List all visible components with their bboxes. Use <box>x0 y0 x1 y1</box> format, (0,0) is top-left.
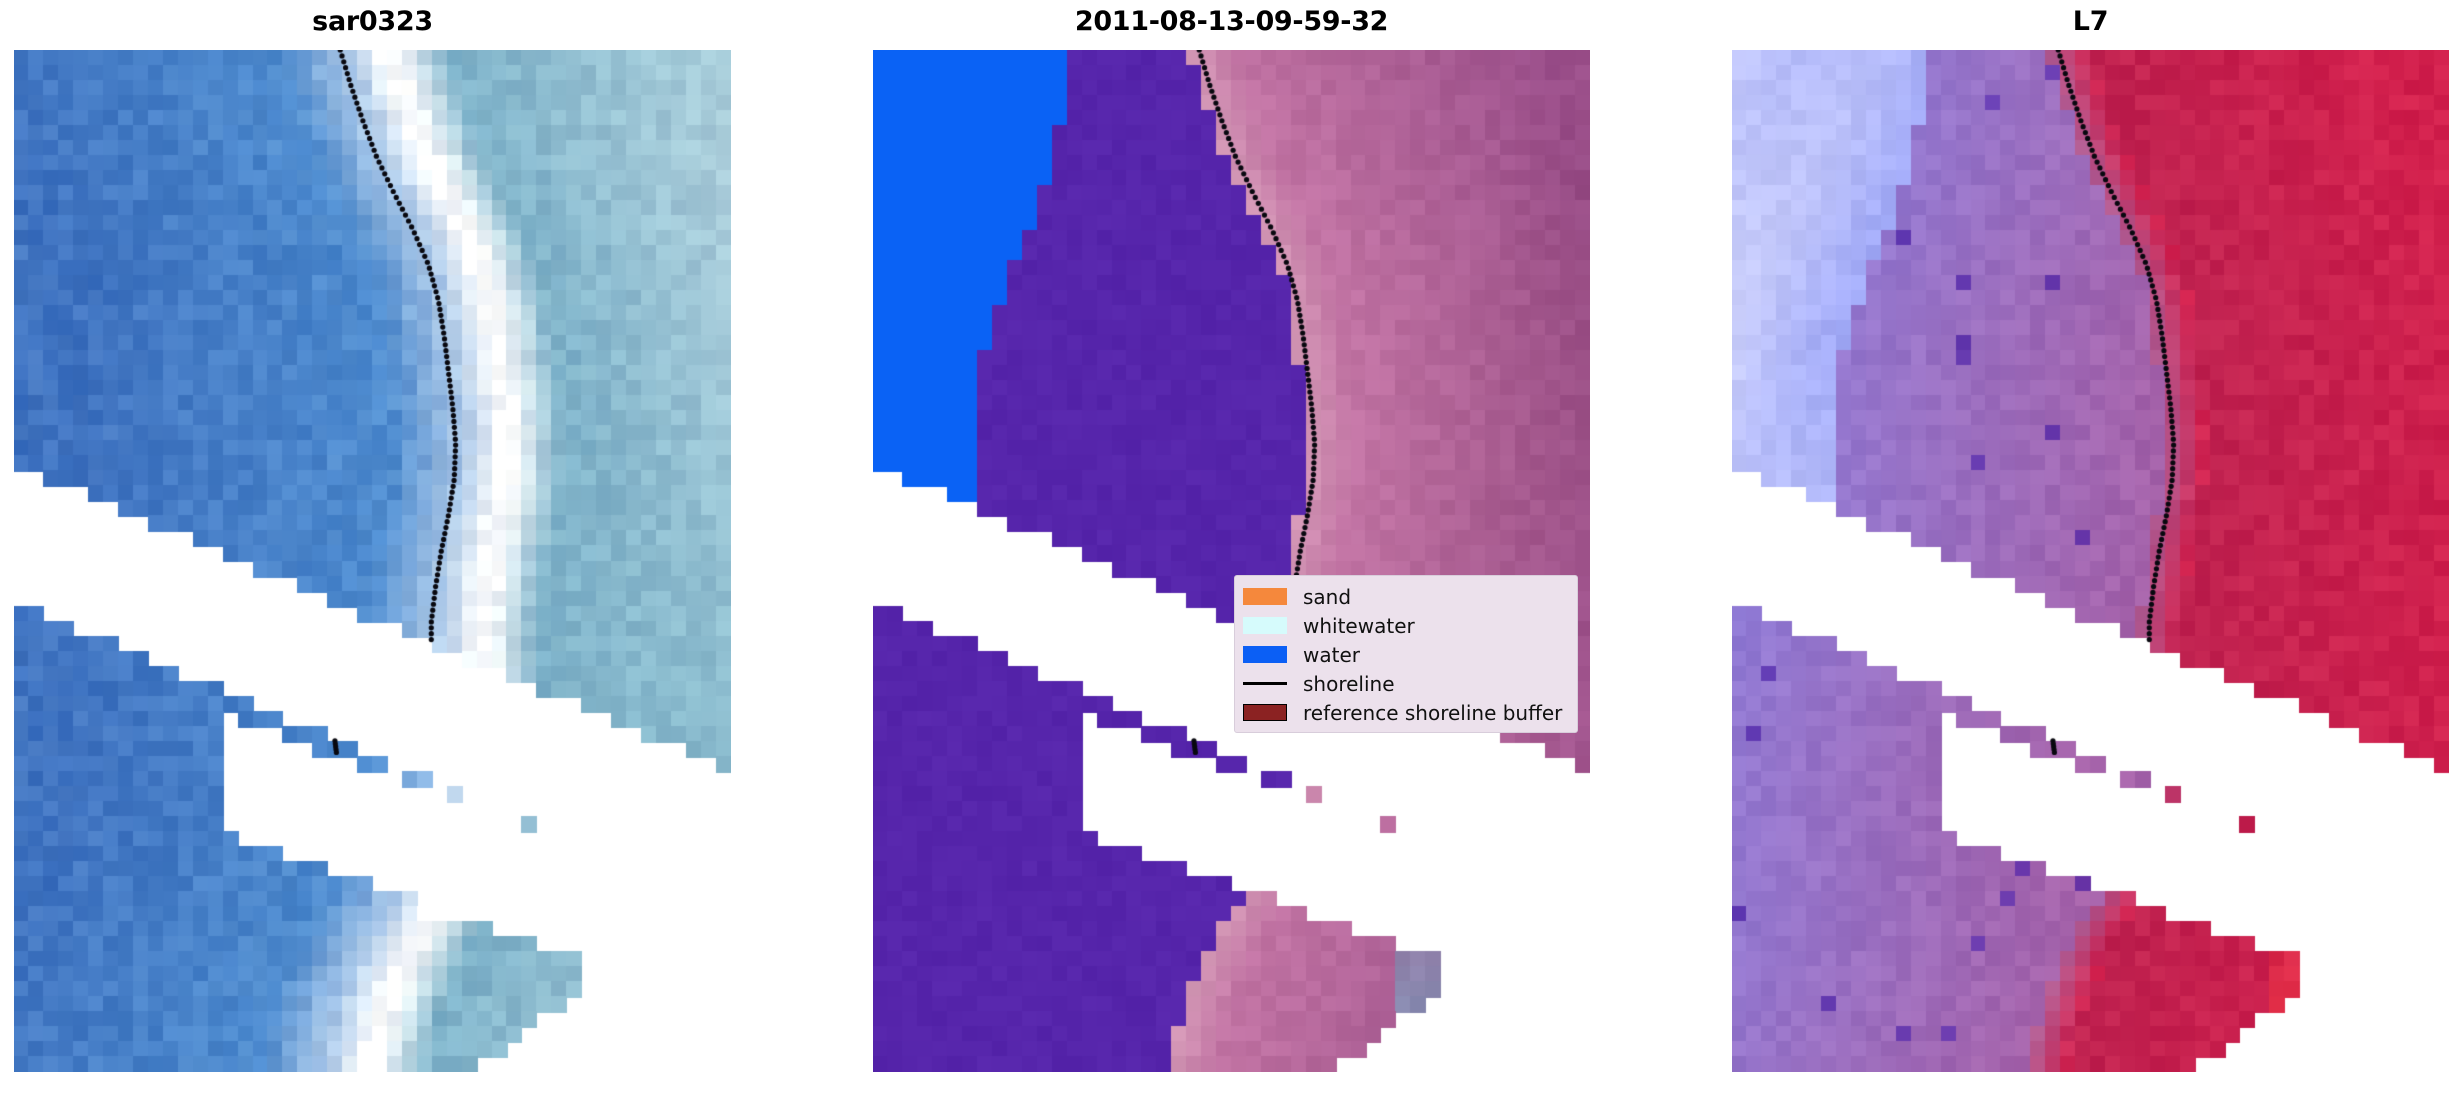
sar-raster <box>14 50 731 1072</box>
legend-item-sand: sand <box>1243 582 1569 611</box>
panel-title-l7: L7 <box>1732 6 2449 37</box>
image-panel-classification[interactable] <box>873 50 1590 1072</box>
panel-title-timestamp: 2011-08-13-09-59-32 <box>873 6 1590 37</box>
legend-label-water: water <box>1303 645 1360 665</box>
legend: sand whitewater water shoreline referenc… <box>1234 575 1578 733</box>
legend-item-reference-buffer: reference shoreline buffer <box>1243 698 1569 727</box>
legend-label-reference-buffer: reference shoreline buffer <box>1303 703 1562 723</box>
legend-item-whitewater: whitewater <box>1243 611 1569 640</box>
legend-swatch-reference-buffer <box>1243 704 1287 721</box>
legend-label-shoreline: shoreline <box>1303 674 1395 694</box>
figure-root: sar0323 2011-08-13-09-59-32 L7 sand whit… <box>0 0 2460 1099</box>
panel-title-sar: sar0323 <box>14 6 731 37</box>
image-panel-l7[interactable] <box>1732 50 2449 1072</box>
l7-raster <box>1732 50 2449 1072</box>
legend-swatch-water <box>1243 646 1287 663</box>
image-panel-sar[interactable] <box>14 50 731 1072</box>
legend-swatch-sand <box>1243 588 1287 605</box>
legend-item-water: water <box>1243 640 1569 669</box>
legend-swatch-whitewater <box>1243 617 1287 634</box>
legend-label-sand: sand <box>1303 587 1351 607</box>
legend-label-whitewater: whitewater <box>1303 616 1415 636</box>
legend-swatch-shoreline <box>1243 682 1287 685</box>
classification-raster <box>873 50 1590 1072</box>
legend-item-shoreline: shoreline <box>1243 669 1569 698</box>
